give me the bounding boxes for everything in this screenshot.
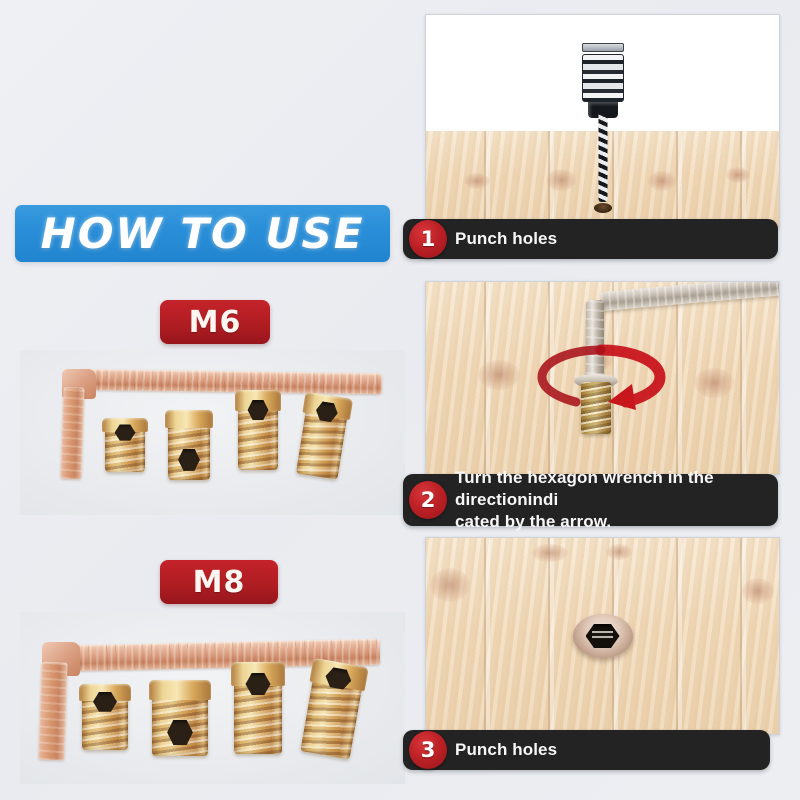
drill-chuck-cap bbox=[582, 43, 624, 52]
drill-bit bbox=[598, 114, 607, 202]
drilled-hole bbox=[594, 203, 612, 213]
step-number-2: 2 bbox=[421, 488, 436, 512]
infographic-canvas: HOW TO USE M6 bbox=[0, 0, 800, 800]
step-number-1: 1 bbox=[421, 227, 436, 251]
step-number-3: 3 bbox=[421, 738, 436, 762]
step-photo-2 bbox=[425, 281, 780, 475]
wood-knot bbox=[606, 544, 632, 560]
size-badge-m6-label: M6 bbox=[189, 305, 242, 340]
step-photo-3 bbox=[425, 537, 780, 735]
wrench-long-arm bbox=[80, 369, 382, 394]
wood-knot bbox=[742, 578, 774, 604]
threaded-insert bbox=[168, 410, 210, 480]
wrench-short-arm bbox=[38, 662, 67, 761]
wood-knot bbox=[478, 360, 520, 390]
size-badge-m8-label: M8 bbox=[193, 565, 246, 600]
step-number-badge-2: 2 bbox=[409, 481, 447, 519]
insert-hex-socket bbox=[586, 624, 620, 648]
seated-threaded-insert bbox=[573, 614, 633, 658]
insert-flange bbox=[149, 680, 211, 700]
wood-knot bbox=[648, 171, 676, 191]
step-caption-bar-3: 3 Punch holes bbox=[403, 730, 770, 770]
threaded-insert bbox=[152, 680, 208, 756]
size-badge-m8: M8 bbox=[160, 560, 278, 604]
threaded-insert bbox=[82, 684, 128, 750]
wood-knot bbox=[694, 368, 734, 398]
wood-knot bbox=[464, 173, 490, 189]
step-caption-3: Punch holes bbox=[455, 739, 557, 761]
step-number-badge-1: 1 bbox=[409, 220, 447, 258]
size-badge-m6: M6 bbox=[160, 300, 270, 344]
step-photo-1 bbox=[425, 14, 780, 228]
how-to-use-title: HOW TO USE bbox=[41, 209, 365, 258]
wood-knot bbox=[546, 169, 576, 191]
step-caption-1: Punch holes bbox=[455, 228, 557, 250]
insert-flange bbox=[165, 410, 213, 428]
wood-knot bbox=[532, 544, 568, 562]
rotation-arrow-icon bbox=[536, 344, 666, 410]
step-caption-bar-2: 2 Turn the hexagon wrench in the directi… bbox=[403, 474, 778, 526]
how-to-use-banner: HOW TO USE bbox=[15, 205, 390, 262]
step-caption-bar-1: 1 Punch holes bbox=[403, 219, 778, 259]
drill-chuck bbox=[582, 43, 624, 118]
product-photo-m8 bbox=[20, 612, 405, 784]
threaded-insert bbox=[234, 662, 282, 754]
threaded-insert bbox=[105, 418, 145, 472]
threaded-insert bbox=[238, 390, 278, 470]
wood-knot bbox=[726, 167, 750, 183]
wood-knot bbox=[430, 568, 470, 602]
wrench-short-arm bbox=[60, 387, 84, 480]
drill-chuck-body bbox=[582, 54, 624, 102]
product-photo-m6 bbox=[20, 350, 405, 515]
step-number-badge-3: 3 bbox=[409, 731, 447, 769]
step-caption-2: Turn the hexagon wrench in the direction… bbox=[455, 467, 768, 532]
